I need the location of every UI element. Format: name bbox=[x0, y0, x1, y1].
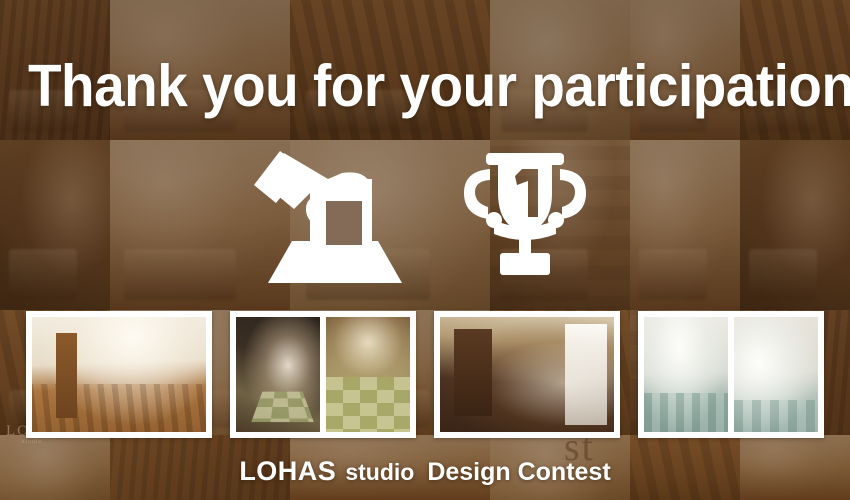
page-title: Thank you for your participation!! bbox=[28, 57, 850, 116]
dark-wood-dining-with-raised-floor bbox=[440, 317, 614, 432]
design-contest-banner: OH st LOHAS studio Thank you for your pa… bbox=[0, 0, 850, 500]
contest-entry-2[interactable] bbox=[230, 311, 416, 438]
contest-entry-1[interactable] bbox=[26, 311, 212, 438]
brand-contest: Design Contest bbox=[427, 458, 610, 486]
dark-hallway-to-tatami-room bbox=[236, 317, 320, 432]
washroom-vanity-with-oval-mirror bbox=[644, 317, 728, 432]
ballot-box-icon bbox=[250, 145, 420, 290]
headline-text: Thank you for your participation bbox=[28, 53, 850, 119]
living-room-with-ceiling-fan bbox=[32, 317, 206, 432]
trophy-icon bbox=[460, 147, 590, 287]
contest-entry-4[interactable] bbox=[638, 311, 824, 438]
corner-logo-subtext: studio bbox=[22, 439, 66, 445]
contest-entry-thumbnails bbox=[26, 311, 824, 438]
contest-entry-3[interactable] bbox=[434, 311, 620, 438]
powder-room-with-basin bbox=[734, 317, 818, 432]
brand-lohas: LOHAS bbox=[239, 456, 336, 486]
green-tatami-room bbox=[326, 317, 410, 432]
icon-row bbox=[250, 142, 610, 292]
brand-studio: studio bbox=[345, 459, 414, 485]
brand-lockup: LOHASstudioDesign Contest bbox=[0, 456, 850, 487]
